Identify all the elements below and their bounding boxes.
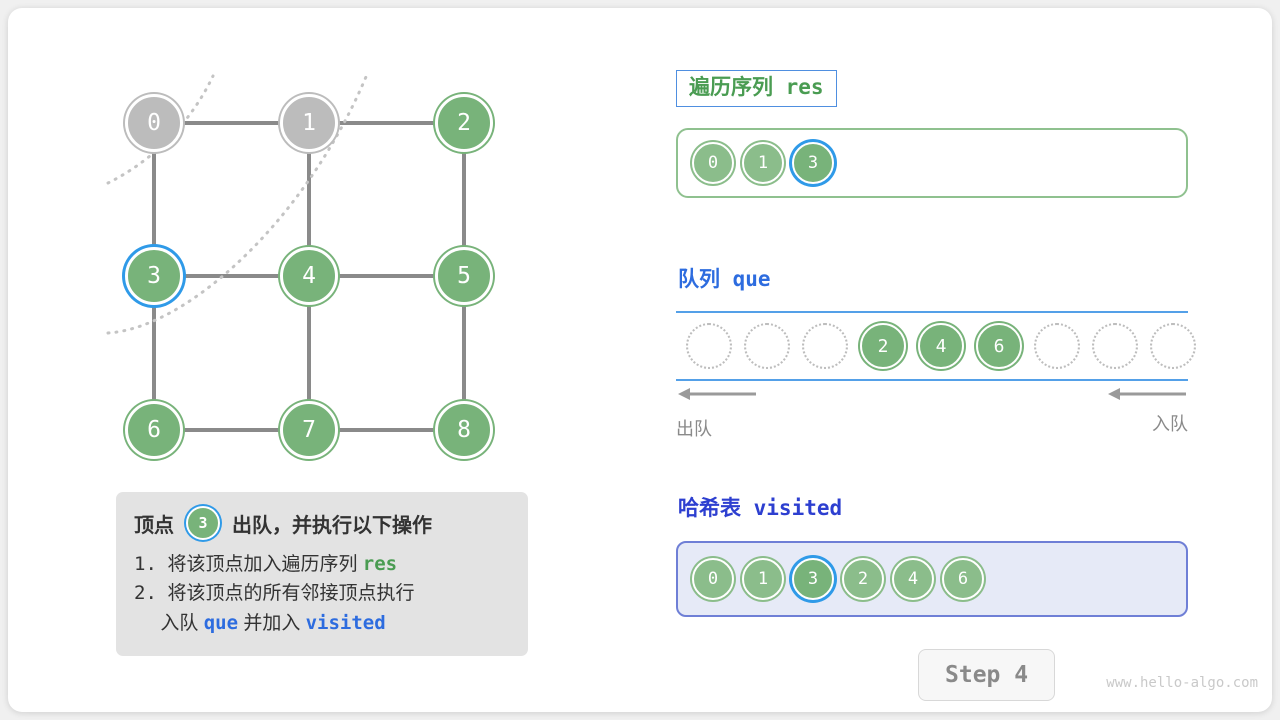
visited-container: 013246: [676, 541, 1188, 617]
diagram-card: 012345678 顶点 3 出队，并执行以下操作 1. 将该顶点加入遍历序列 …: [8, 8, 1272, 712]
visited-item-0: 0: [692, 558, 734, 600]
graph-node-2: 2: [435, 94, 493, 152]
visited-item-1: 1: [742, 558, 784, 600]
queue-slot-empty-7: [1092, 323, 1138, 369]
graph-node-6: 6: [125, 401, 183, 459]
enqueue-group: 入队: [1078, 386, 1188, 436]
caption-line2-number: 2.: [134, 582, 157, 604]
res-item-3: 3: [792, 142, 834, 184]
queue-slot-empty-1: [744, 323, 790, 369]
dequeue-label: 出队: [676, 415, 786, 441]
queue-slot-empty-6: [1034, 323, 1080, 369]
queue-slot-empty-8: [1150, 323, 1196, 369]
caption-line1-code: res: [363, 553, 397, 575]
caption-line-2: 2. 将该顶点的所有邻接顶点执行: [134, 579, 510, 608]
queue-container: 246: [676, 311, 1188, 381]
caption-line1-number: 1.: [134, 553, 157, 575]
queue-slot-6: 6: [976, 323, 1022, 369]
graph-node-8: 8: [435, 401, 493, 459]
state-panel: 遍历序列 res 013 队列 que 246 出队 入队: [658, 8, 1272, 712]
graph-node-5: 5: [435, 247, 493, 305]
caption-line3-code-visited: visited: [306, 612, 386, 634]
visited-item-2: 2: [842, 558, 884, 600]
visited-title: 哈希表 visited: [678, 492, 842, 522]
watermark: www.hello-algo.com: [1106, 675, 1258, 691]
caption-node-badge: 3: [186, 506, 220, 540]
queue-slots: 246: [676, 313, 1188, 379]
graph-node-0: 0: [125, 94, 183, 152]
res-title: 遍历序列 res: [676, 70, 837, 107]
visited-item-3: 3: [792, 558, 834, 600]
caption-line1-text: 将该顶点加入遍历序列: [167, 554, 357, 575]
queue-arrows: 出队 入队: [676, 386, 1188, 448]
caption-line-1: 1. 将该顶点加入遍历序列 res: [134, 550, 510, 579]
caption-headline: 顶点 3 出队，并执行以下操作: [134, 506, 510, 540]
visited-item-4: 4: [892, 558, 934, 600]
caption-box: 顶点 3 出队，并执行以下操作 1. 将该顶点加入遍历序列 res 2. 将该顶…: [116, 492, 528, 656]
queue-title: 队列 que: [678, 263, 771, 293]
graph-node-4: 4: [280, 247, 338, 305]
enqueue-arrow-icon: [1106, 386, 1188, 402]
visited-item-6: 6: [942, 558, 984, 600]
graph-node-1: 1: [280, 94, 338, 152]
graph-node-3: 3: [125, 247, 183, 305]
caption-line3-text-a: 入队: [160, 613, 198, 634]
caption-head-prefix: 顶点: [134, 509, 174, 538]
step-badge: Step 4: [918, 649, 1055, 701]
res-item-1: 1: [742, 142, 784, 184]
caption-line3-text-b: 并加入: [243, 613, 300, 634]
caption-head-suffix: 出队，并执行以下操作: [232, 509, 432, 538]
enqueue-label: 入队: [1078, 410, 1188, 436]
dequeue-group: 出队: [676, 386, 786, 441]
graph-panel: 012345678: [8, 8, 628, 488]
queue-slot-4: 4: [918, 323, 964, 369]
caption-line-3: 入队 que 并加入 visited: [134, 609, 510, 638]
queue-slot-empty-0: [686, 323, 732, 369]
res-container: 013: [676, 128, 1188, 198]
caption-line3-code-que: que: [204, 612, 238, 634]
queue-slot-empty-2: [802, 323, 848, 369]
dequeue-arrow-icon: [676, 386, 758, 402]
caption-line2-text: 将该顶点的所有邻接顶点执行: [167, 583, 414, 604]
res-item-0: 0: [692, 142, 734, 184]
queue-rail-bottom: [676, 379, 1188, 381]
graph-node-7: 7: [280, 401, 338, 459]
queue-slot-2: 2: [860, 323, 906, 369]
